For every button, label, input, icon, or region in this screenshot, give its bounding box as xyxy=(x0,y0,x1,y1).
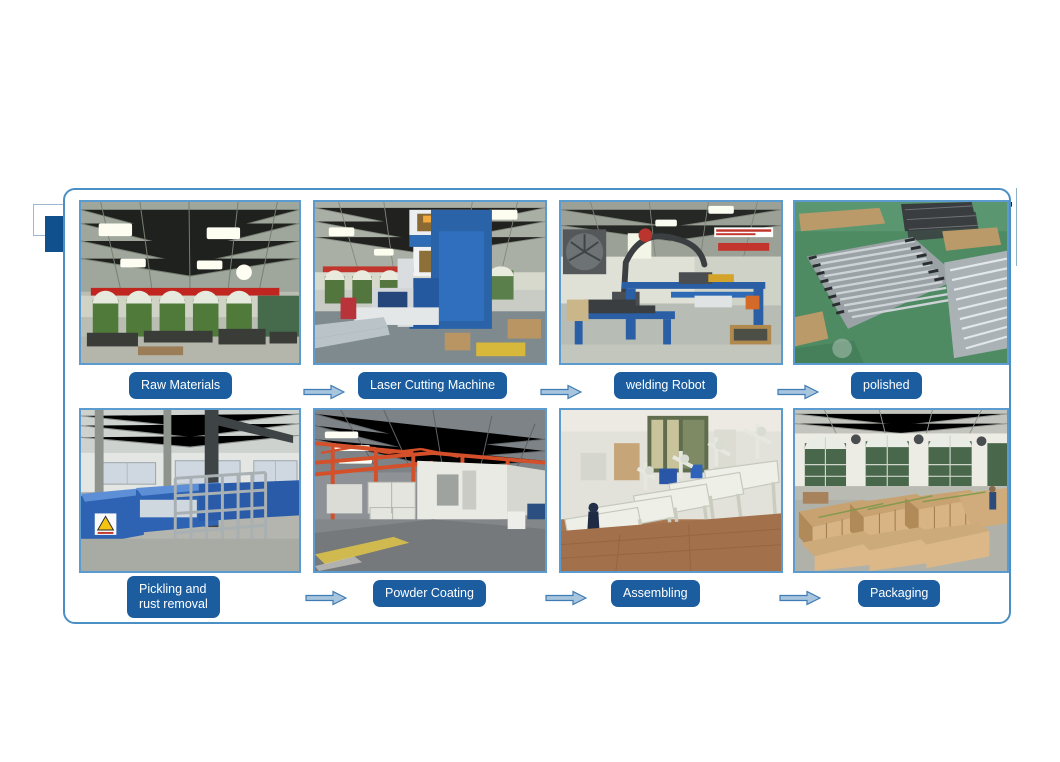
blue-laser-cutting-machine-photo xyxy=(313,200,547,365)
stage-label: Raw Materials xyxy=(129,372,232,399)
stage-label: Pickling and rust removal xyxy=(127,576,220,618)
header-divider xyxy=(1016,188,1018,266)
pickling-tanks-photo xyxy=(79,408,301,573)
stage-label: Laser Cutting Machine xyxy=(358,372,507,399)
workflow-stage-welding-robot[interactable]: welding Robot xyxy=(559,194,781,402)
workflow-stage-pickling[interactable]: Pickling and rust removal xyxy=(79,402,301,610)
workflow-row-2: Pickling and rust removal xyxy=(65,402,1013,610)
packaged-cartons-warehouse-photo xyxy=(793,408,1009,573)
stage-label: Powder Coating xyxy=(373,580,486,607)
workflow-stage-packaging[interactable]: Packaging xyxy=(793,402,1015,610)
workflow-stage-polished[interactable]: polished xyxy=(793,194,1015,402)
welding-robot-workstation-photo xyxy=(559,200,783,365)
workflow-stage-powder-coating[interactable]: Powder Coating xyxy=(313,402,535,610)
assembly-workshop-photo xyxy=(559,408,783,573)
stage-label: polished xyxy=(851,372,922,399)
workflow-stage-assembling[interactable]: Assembling xyxy=(559,402,781,610)
page-header: Production Workflow Chart xyxy=(0,92,1060,172)
workflow-stage-raw-materials[interactable]: Raw Materials xyxy=(79,194,301,402)
factory-warehouse-interior-photo xyxy=(79,200,301,365)
stage-label: Packaging xyxy=(858,580,940,607)
stage-label: welding Robot xyxy=(614,372,717,399)
powder-coating-line-photo xyxy=(313,408,547,573)
polished-metal-parts-pallets-photo xyxy=(793,200,1009,365)
workflow-stage-laser-cutting[interactable]: Laser Cutting Machine xyxy=(313,194,535,402)
workflow-panel: Raw Materials xyxy=(63,188,1011,624)
stage-label: Assembling xyxy=(611,580,700,607)
workflow-row-1: Raw Materials xyxy=(65,194,1013,402)
